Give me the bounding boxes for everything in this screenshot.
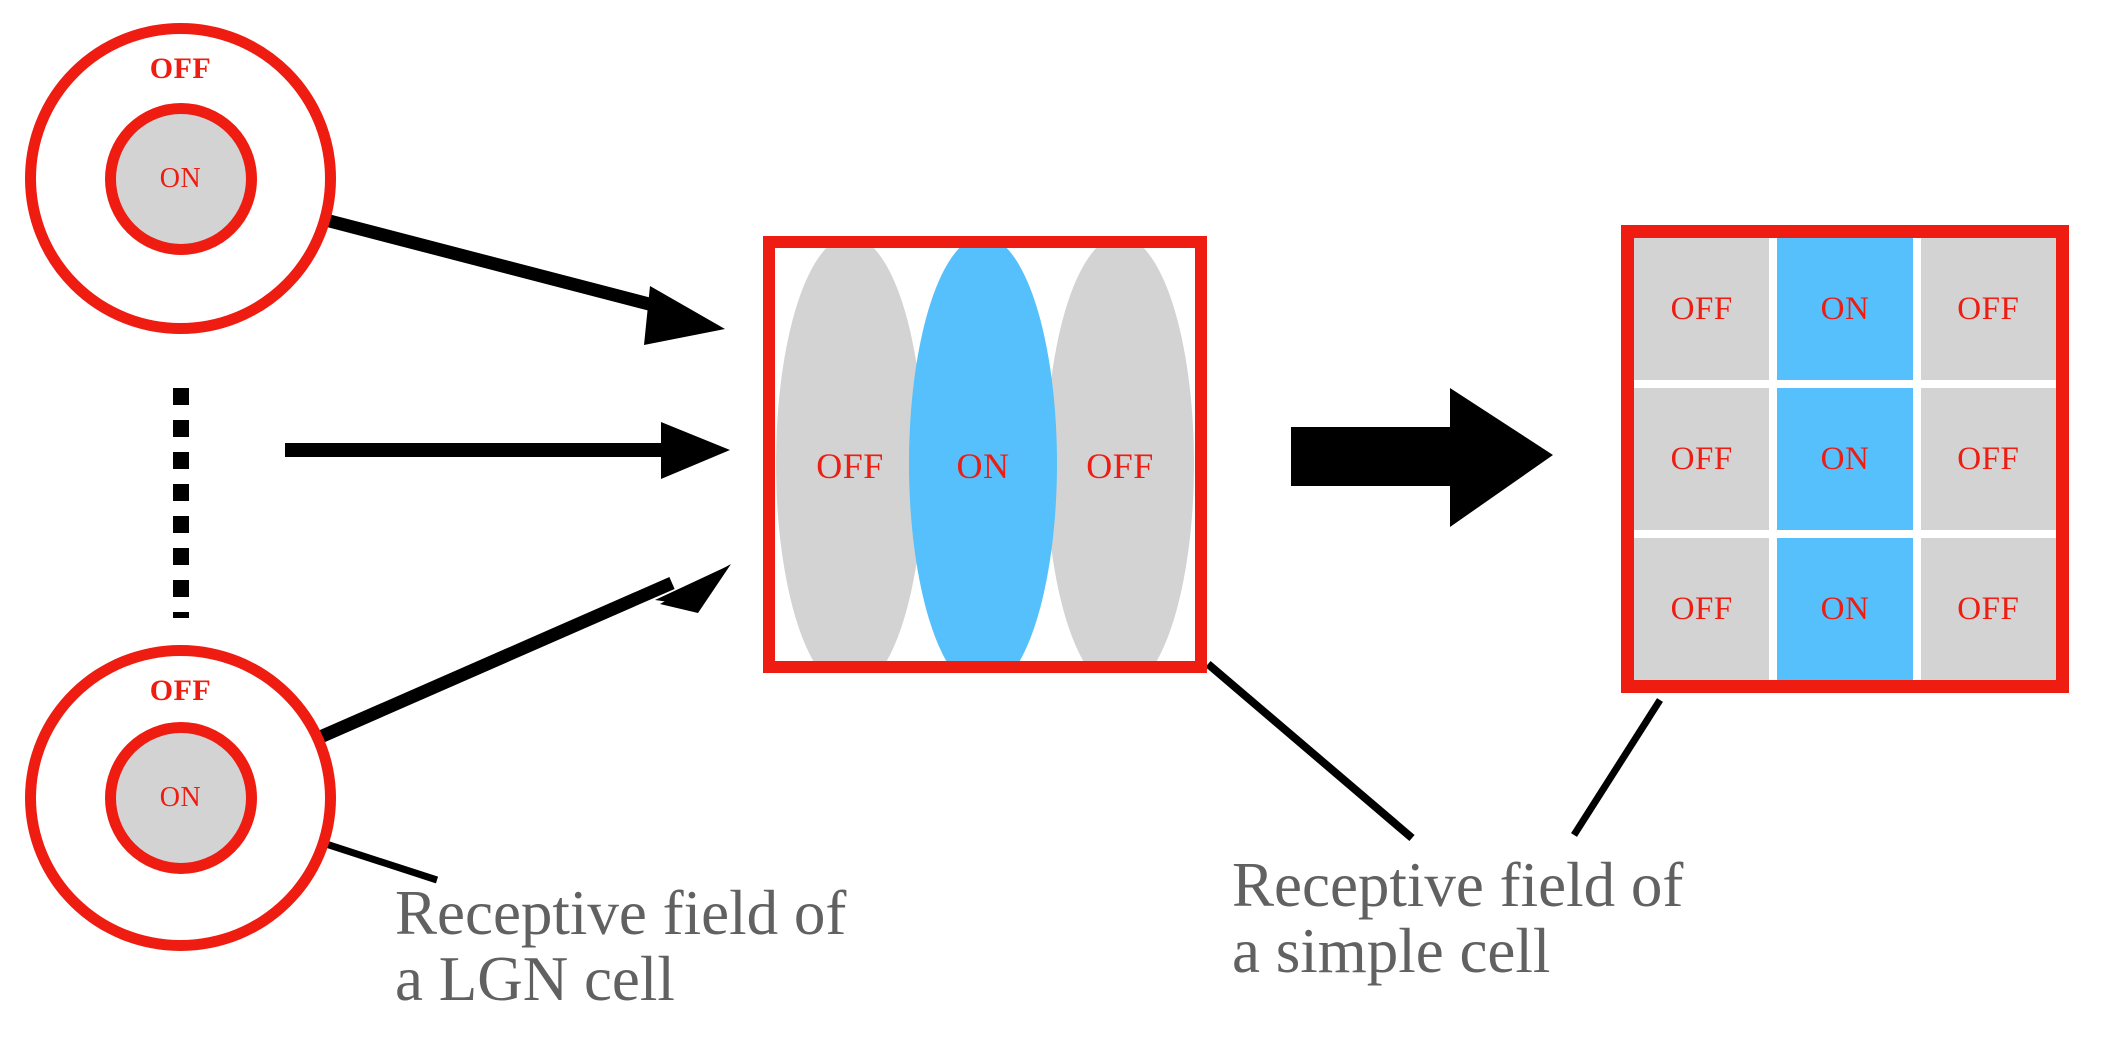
lgn-cell-bottom-center-label: ON: [160, 782, 201, 814]
caption-simple-cell: Receptive field of a simple cell: [1232, 852, 1683, 984]
leader-line-simple-panel: [1208, 664, 1412, 838]
lgn-cell-bottom: OFF ON: [25, 645, 336, 951]
block-arrow: [1291, 388, 1553, 527]
arrow-middle: [285, 422, 730, 479]
grid-cell-r1c0: OFF: [1634, 388, 1769, 530]
simple-cell-lobe-off-right-label: OFF: [1086, 445, 1154, 487]
leader-line-lgn: [323, 843, 437, 880]
caption-lgn-cell: Receptive field of a LGN cell: [395, 880, 846, 1012]
lgn-cell-top-center-label: ON: [160, 163, 201, 195]
diagram-canvas: OFF ON OFF ON OFF OFF ON OFF ON OFF OFF …: [0, 0, 2113, 1055]
grid-cell-r0c1: ON: [1777, 238, 1912, 380]
grid-cell-r1c1: ON: [1777, 388, 1912, 530]
simple-cell-lobe-on-center: ON: [909, 236, 1057, 673]
grid-cell-r2c0: OFF: [1634, 538, 1769, 680]
lgn-cell-top-surround-label: OFF: [36, 52, 325, 86]
grid-cell-r0c2: OFF: [1921, 238, 2056, 380]
leader-line-grid-panel: [1574, 700, 1660, 835]
grid-cell-r2c1: ON: [1777, 538, 1912, 680]
simple-cell-lobe-on-center-label: ON: [957, 445, 1010, 487]
simple-cell-lobe-off-right: OFF: [1046, 236, 1194, 673]
lgn-cell-bottom-center: ON: [105, 722, 257, 874]
simple-cell-lobe-off-left: OFF: [776, 236, 924, 673]
grid-cell-r2c2: OFF: [1921, 538, 2056, 680]
lgn-cell-top-center: ON: [105, 103, 257, 255]
grid-cell-r1c2: OFF: [1921, 388, 2056, 530]
receptive-field-grid-panel: OFF ON OFF OFF ON OFF OFF ON OFF: [1621, 225, 2069, 693]
lgn-cell-top: OFF ON: [25, 23, 336, 334]
receptive-field-simple-cell-panel: OFF OFF ON: [763, 236, 1207, 673]
arrow-top: [318, 218, 725, 345]
lgn-cell-bottom-surround-label: OFF: [36, 674, 325, 708]
arrow-bottom: [318, 564, 731, 738]
simple-cell-lobe-off-left-label: OFF: [816, 445, 884, 487]
grid-cell-r0c0: OFF: [1634, 238, 1769, 380]
